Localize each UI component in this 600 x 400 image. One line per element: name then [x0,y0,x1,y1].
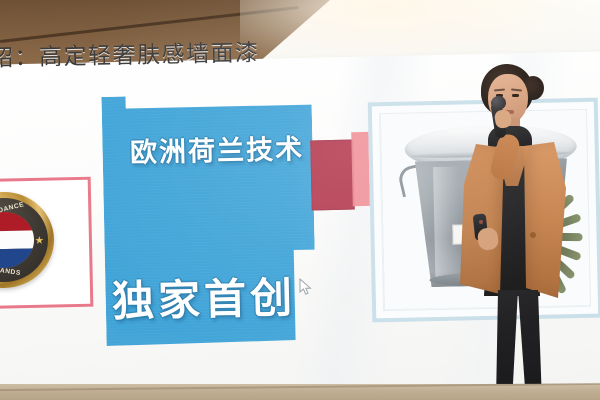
seal-top-text: CAL GUIDANCE [0,201,25,222]
headline-bottom-text: 独家首创 [111,264,296,329]
headline-top-text: 欧洲荷兰技术 [130,127,305,170]
certification-seal: CAL GUIDANCE NETHERLANDS ★ [0,191,55,289]
seal-text-group: CAL GUIDANCE NETHERLANDS ★ [0,191,55,289]
presenter-blazer-right [524,142,566,298]
mouse-cursor-icon [299,278,313,296]
seal-bottom-text: NETHERLANDS [0,262,21,277]
screenshot-stage: 绍：高定轻奢肤感墙面漆 欧洲荷兰技术 独家首创 CAL GUIDANCE NET… [0,0,600,400]
slide-title: 绍：高定轻奢肤感墙面漆 [0,33,260,73]
presenter-eye-right [512,94,519,97]
presenter [438,62,578,400]
star-icon: ★ [35,235,44,246]
blazer-button [530,232,536,238]
crimson-accent-rect [310,140,354,211]
clicker-button-icon [479,220,483,224]
